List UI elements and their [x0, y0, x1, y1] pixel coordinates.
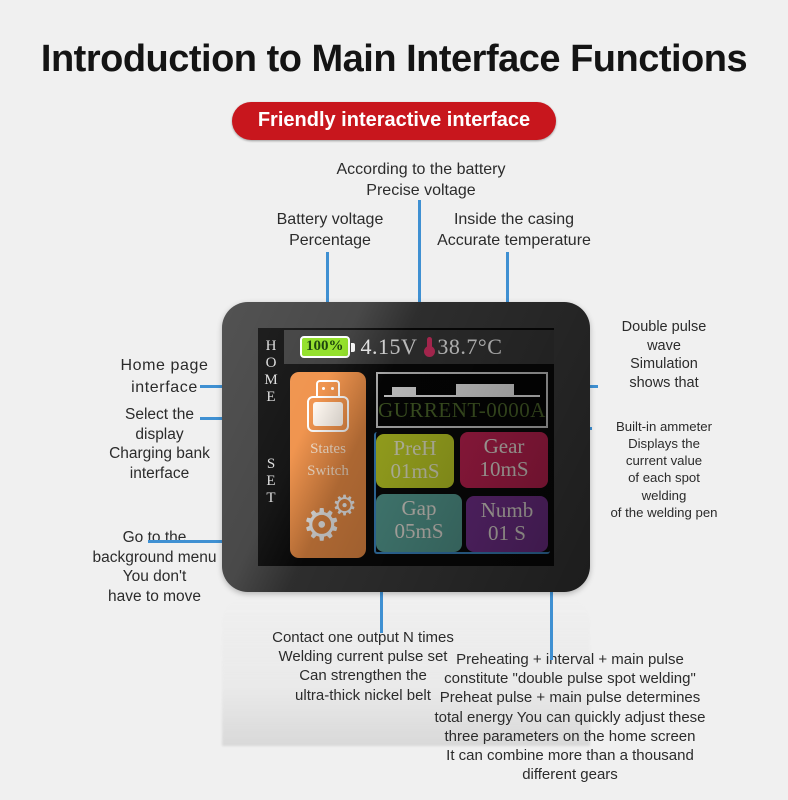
states-switch-line2: Switch — [290, 460, 366, 482]
rail-home-letter: H — [258, 338, 284, 355]
waveform-preheat-pulse — [392, 387, 416, 395]
usb-pin-left — [322, 387, 325, 390]
poster-root: Introduction to Main Interface Functions… — [0, 0, 788, 800]
current-readout: GURRENT-0000A — [378, 398, 546, 423]
spot-welder-device: H O M E S E T 100% 4.15V — [222, 302, 590, 592]
states-switch-line1: States — [290, 438, 366, 460]
gears-icon[interactable]: ⚙ ⚙ — [300, 490, 360, 552]
tile-gap-value: 05mS — [376, 520, 462, 543]
annotation-builtin-ammeter: Built-in ammeter Displays the current va… — [594, 418, 734, 521]
rail-home-letter: M — [258, 372, 284, 389]
temperature-readout: 38.7°C — [437, 334, 502, 360]
annotation-precise-voltage: According to the battery Precise voltage — [286, 160, 556, 202]
voltage-readout: 4.15V — [361, 334, 418, 360]
annotation-temperature: Inside the casing Accurate temperature — [418, 210, 610, 252]
usb-pin-right — [331, 387, 334, 390]
thermometer-bulb — [424, 346, 435, 357]
rail-home-letter: E — [258, 389, 284, 406]
rail-set-letter: E — [258, 473, 284, 490]
subtitle-badge: Friendly interactive interface — [232, 102, 556, 140]
device-screen: H O M E S E T 100% 4.15V — [258, 328, 554, 566]
rail-set-letter: S — [258, 456, 284, 473]
tile-gear-key: Gear — [460, 435, 548, 458]
usb-power-bank-icon — [306, 380, 350, 434]
thermometer-icon — [422, 336, 436, 358]
rail-label-home[interactable]: H O M E — [258, 338, 284, 406]
rail-home-letter: O — [258, 355, 284, 372]
gear-large-icon: ⚙ — [302, 504, 341, 548]
tile-numb-key: Numb — [466, 499, 548, 522]
ammeter-panel[interactable]: GURRENT-0000A — [376, 372, 548, 428]
screen-side-rail: H O M E S E T — [258, 328, 284, 566]
annotation-double-pulse-wave: Double pulse wave Simulation shows that — [600, 318, 728, 392]
tile-preh[interactable]: PreH 01mS — [376, 434, 454, 488]
rail-label-set[interactable]: S E T — [258, 456, 284, 507]
usb-body — [307, 396, 349, 432]
tile-preh-value: 01mS — [376, 460, 454, 483]
states-switch-label: States Switch — [290, 438, 366, 482]
waveform-main-pulse — [456, 384, 514, 395]
rail-set-letter: T — [258, 490, 284, 507]
tile-gap-key: Gap — [376, 497, 462, 520]
status-bar: 100% 4.15V 38.7°C — [284, 330, 554, 364]
tile-preh-key: PreH — [376, 437, 454, 460]
badge-container: Friendly interactive interface — [0, 102, 788, 140]
battery-icon: 100% — [300, 336, 355, 358]
battery-tip — [351, 343, 355, 352]
tile-numb-value: 01 S — [466, 522, 548, 545]
page-title: Introduction to Main Interface Functions — [0, 38, 788, 81]
battery-percentage-label: 100% — [300, 336, 350, 358]
states-switch-panel[interactable]: States Switch ⚙ ⚙ — [290, 372, 366, 558]
tile-gear-value: 10mS — [460, 458, 548, 481]
double-pulse-waveform — [384, 379, 540, 397]
tile-gear[interactable]: Gear 10mS — [460, 432, 548, 488]
tile-numb[interactable]: Numb 01 S — [466, 496, 548, 552]
tile-gap[interactable]: Gap 05mS — [376, 494, 462, 552]
annotation-preheat-explanation: Preheating + interval + main pulse const… — [400, 650, 740, 784]
annotation-battery-percentage: Battery voltage Percentage — [230, 210, 430, 252]
